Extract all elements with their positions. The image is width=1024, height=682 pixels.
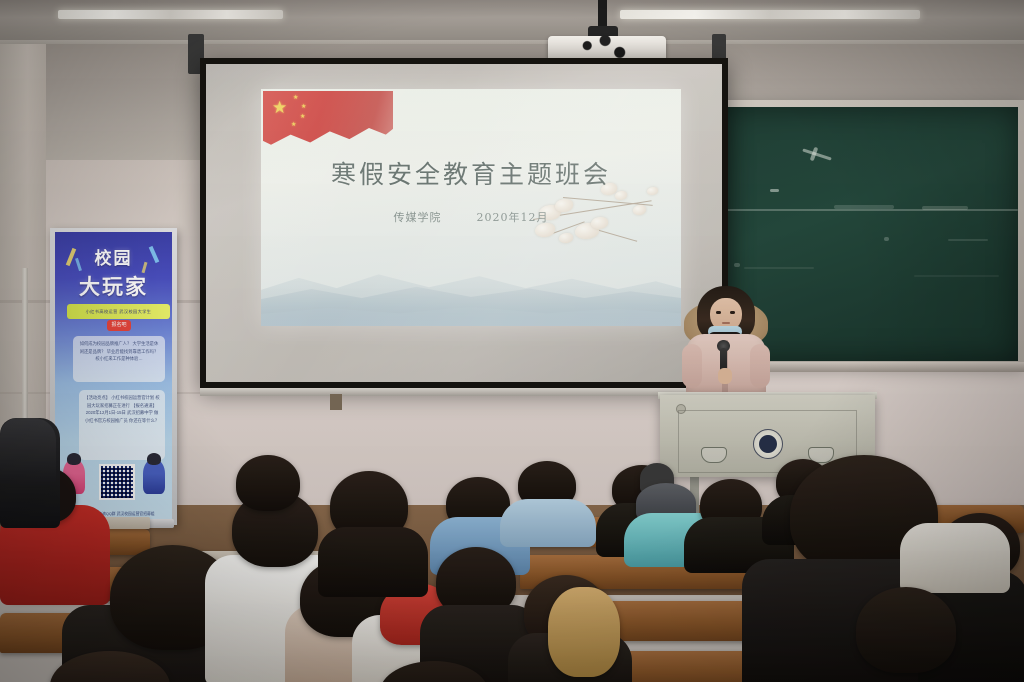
screen-bracket: [330, 394, 342, 410]
presenter-arm-left: [682, 344, 702, 388]
presentation-slide: ★ ★ ★ ★ ★: [261, 89, 681, 326]
slide-department: 传媒学院: [394, 209, 442, 225]
projection-screen: ★ ★ ★ ★ ★: [206, 64, 722, 382]
banner-title: 校园 大玩家: [55, 244, 172, 301]
slide-subtitle: 传媒学院 2020年12月: [261, 209, 681, 225]
office-chair-back: [0, 418, 56, 488]
presenter: [680, 282, 772, 400]
ceiling: [0, 0, 1024, 44]
screen-bottom-bar: [200, 388, 728, 396]
banner-badge: 报名吧: [107, 320, 131, 331]
slide-title: 寒假安全教育主题班会: [261, 155, 681, 191]
ceiling-light-right-icon: [620, 10, 920, 19]
banner-title-line2: 大玩家: [55, 271, 172, 301]
lecture-hall-photo: ★ ★ ★ ★ ★: [0, 0, 1024, 682]
presenter-hands: [718, 368, 732, 384]
slide-date: 2020年12月: [477, 209, 549, 225]
audience-seating: [0, 455, 1024, 682]
presenter-arm-right: [750, 344, 770, 388]
banner-card-details: 【活动亮点】 小红书校园运营官计划 校园大玩家招募正在进行 【报名通道】 202…: [79, 390, 165, 460]
banner-ribbon: 小红书高校运营 武汉校园大学生: [67, 304, 170, 319]
projection-screen-frame: ★ ★ ★ ★ ★: [200, 58, 728, 388]
ceiling-light-left-icon: [58, 10, 283, 19]
chinese-national-flag-icon: ★ ★ ★ ★ ★: [263, 91, 393, 153]
banner-title-line1: 校园: [55, 244, 172, 269]
banner-card-questions: 如何成为校园品牌推广人？ 大学生活是休闲还是品牌？ 毕业后能找到靠谱工作吗？ 校…: [73, 336, 165, 382]
